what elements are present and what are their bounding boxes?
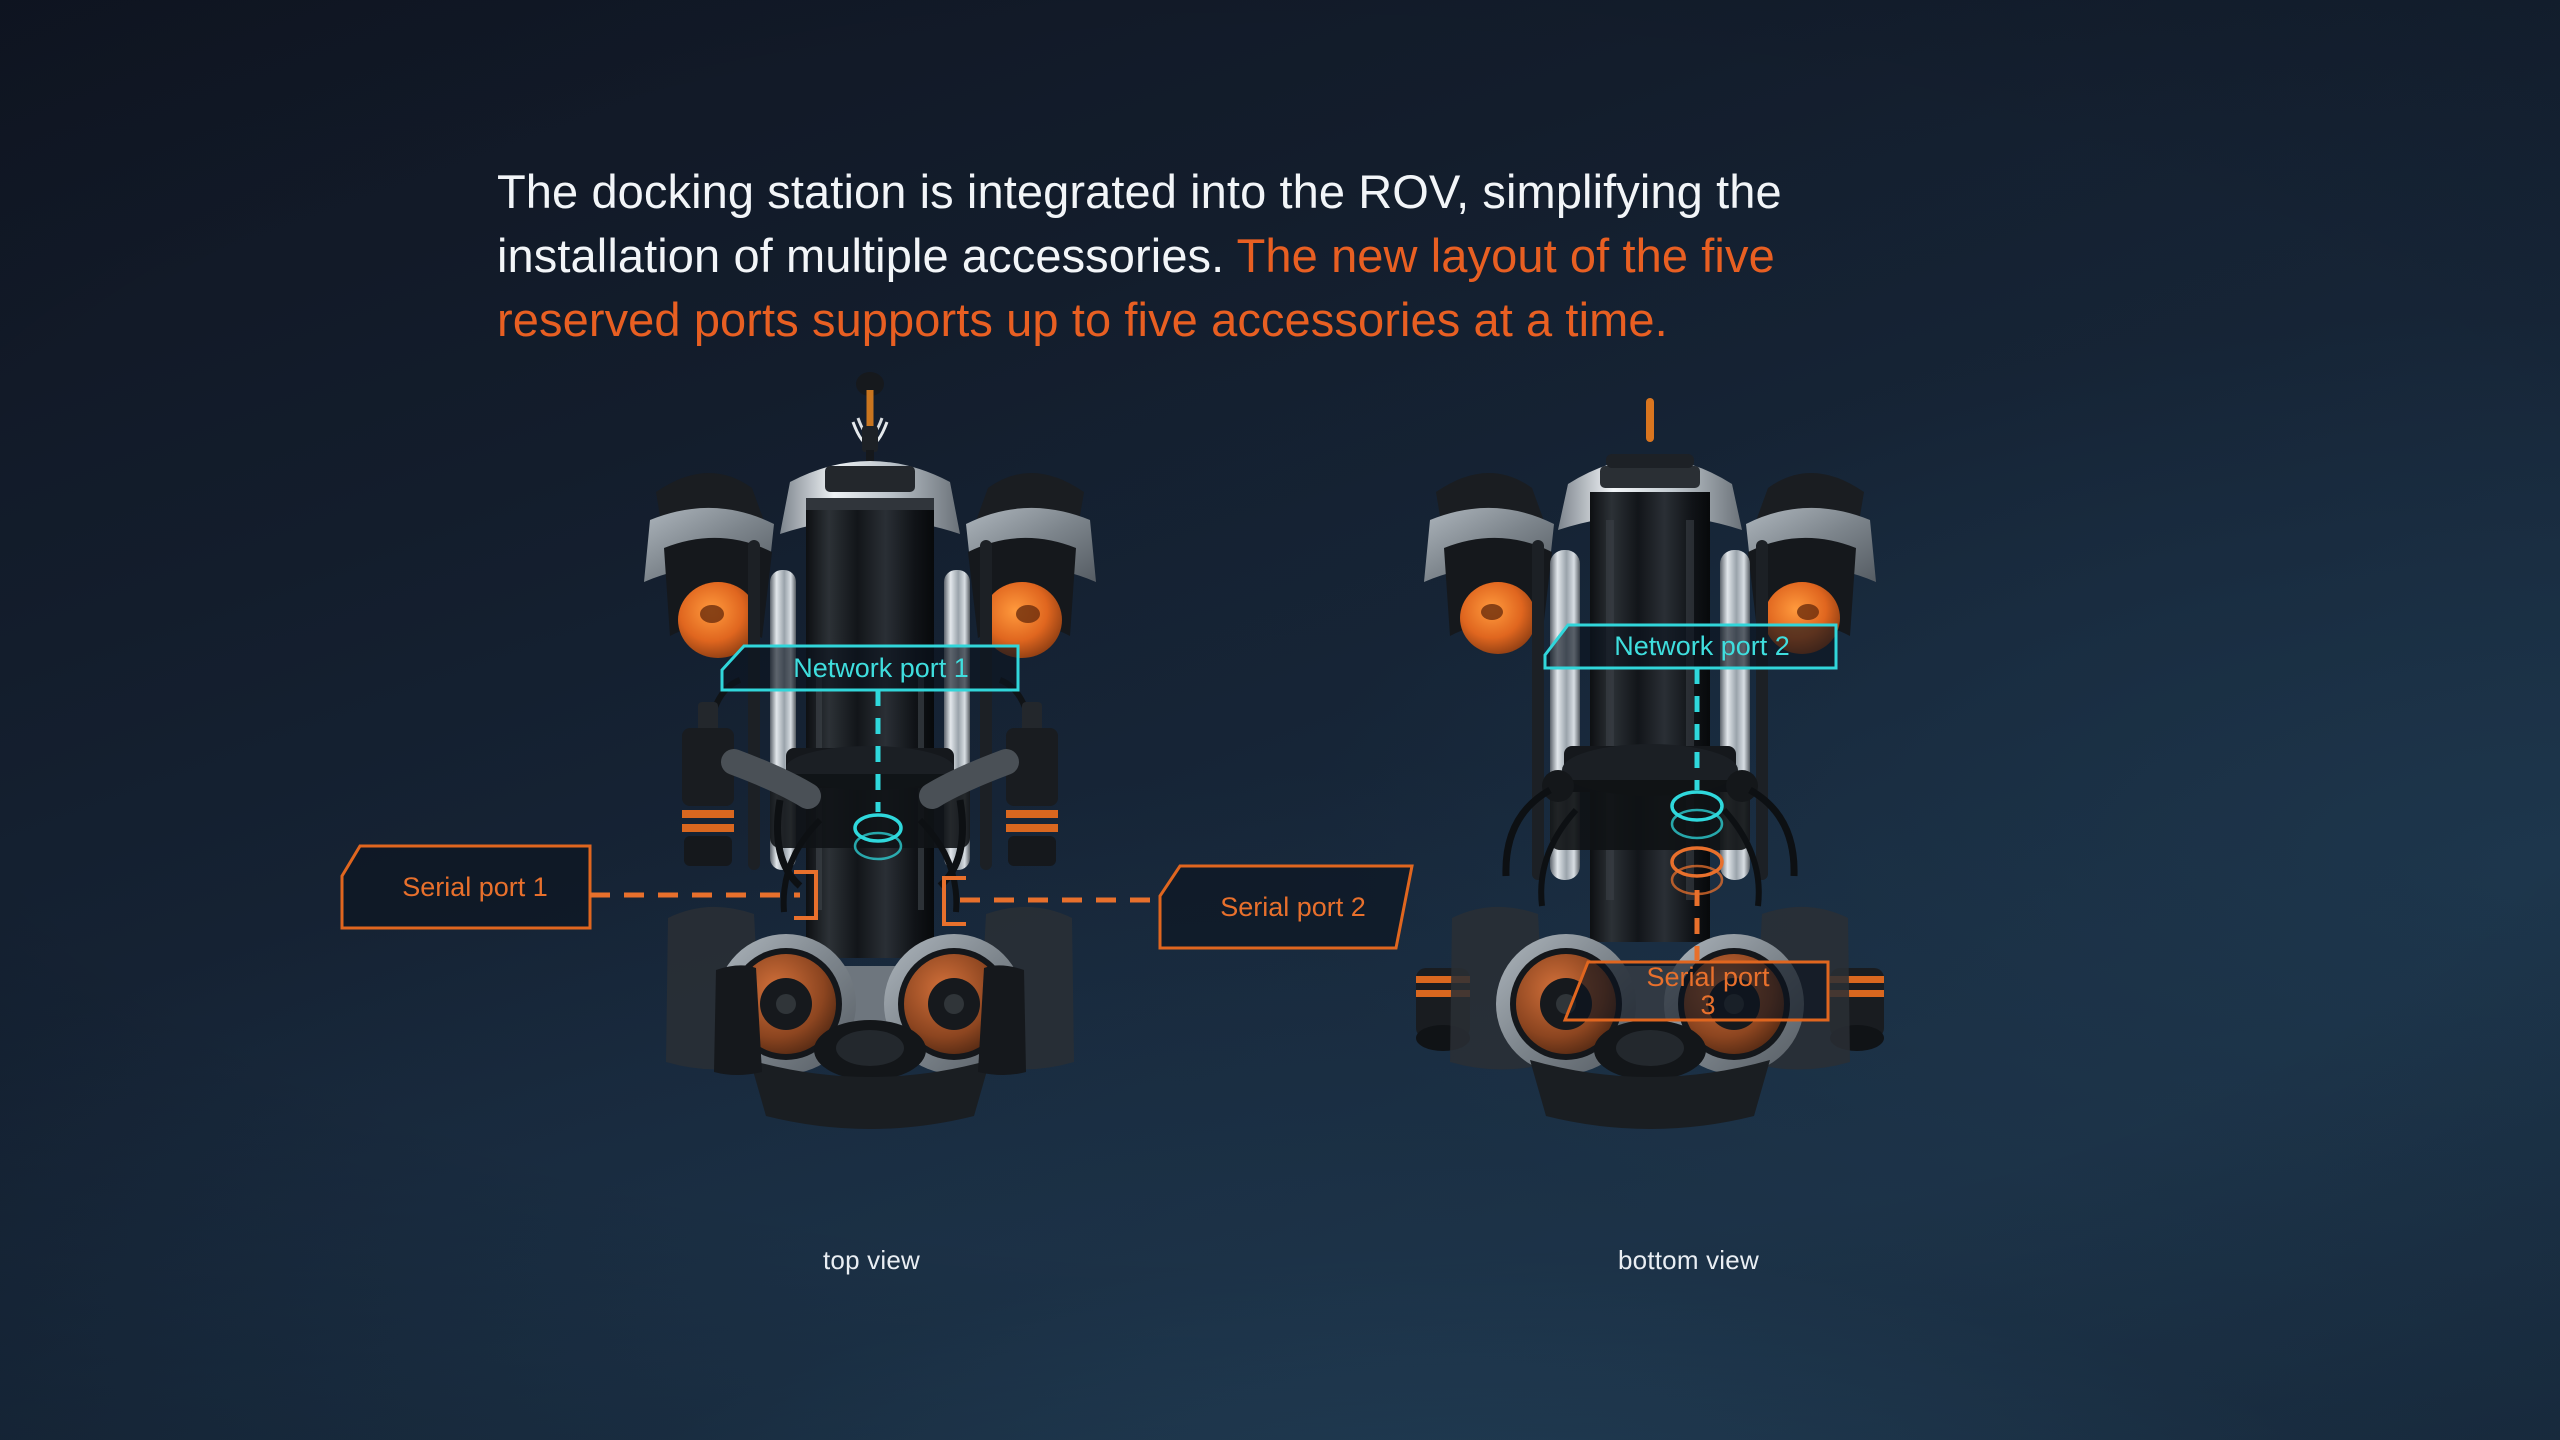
caption-bottom-view: bottom view [1618, 1245, 1759, 1276]
rov-bottom-view-illustration [1400, 370, 1900, 1200]
caption-top-view: top view [823, 1245, 920, 1276]
rov-top-view-illustration [620, 370, 1120, 1200]
headline-text: The docking station is integrated into t… [497, 160, 1957, 352]
antenna-pin [1646, 398, 1654, 442]
